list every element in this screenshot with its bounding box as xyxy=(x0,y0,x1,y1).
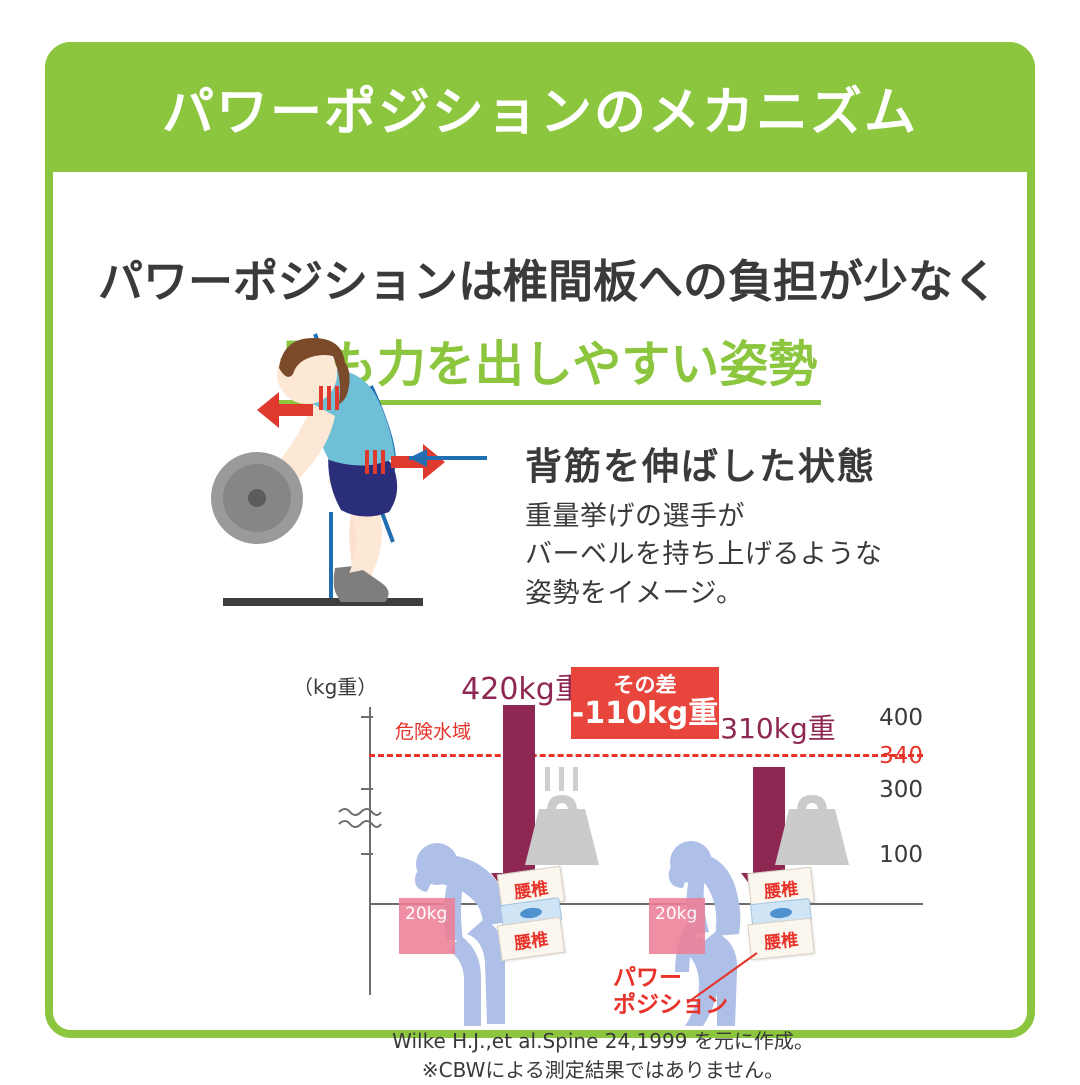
tickmark-100 xyxy=(361,853,373,855)
credit-line-2: ※CBWによる測定結果ではありません。 xyxy=(283,1056,923,1085)
difference-badge-line-1: その差 xyxy=(614,674,677,697)
caption-body-line-1: 重量挙げの選手が xyxy=(525,498,995,536)
axis-break-icon xyxy=(337,805,383,831)
headline-line-1: パワーポジションは椎間板への負担が少なく xyxy=(53,245,1043,310)
headline-line-2-wrap: 最も力を出しやすい姿勢 xyxy=(53,325,1043,405)
caption-body-line-3: 姿勢をイメージ。 xyxy=(525,575,995,613)
danger-threshold-label: 危険水域 xyxy=(395,717,471,744)
difference-badge-line-2: -110kg重 xyxy=(572,697,719,732)
header-banner: パワーポジションのメカニズム xyxy=(45,42,1035,172)
tickmark-300 xyxy=(361,788,373,790)
load-box-2: 20kg xyxy=(649,898,705,954)
difference-badge: その差 -110kg重 xyxy=(571,667,719,739)
credit-line-1: Wilke H.J.,et al.Spine 24,1999 を元に作成。 xyxy=(283,1027,923,1056)
load-box-1: 20kg xyxy=(399,898,455,954)
content-card: パワーポジションのメカニズム パワーポジションは椎間板への負担が少なく 最も力を… xyxy=(45,42,1035,1038)
danger-threshold-line xyxy=(369,754,923,757)
power-position-annotation-line-1: パワー xyxy=(613,965,728,992)
weightlifter-illustration xyxy=(203,330,523,650)
y-axis-line xyxy=(369,707,371,995)
power-position-annotation: パワー ポジション xyxy=(613,965,728,1018)
power-position-annotation-line-2: ポジション xyxy=(613,992,728,1019)
load-chart: （kg重） 400 340 300 100 危険水域 420kg重 310kg重 xyxy=(283,655,923,1055)
load-box-label-2: 20kg xyxy=(655,904,697,924)
page-title: パワーポジションのメカニズム xyxy=(162,70,918,145)
chart-credit: Wilke H.J.,et al.Spine 24,1999 を元に作成。 ※C… xyxy=(283,1027,923,1085)
axis-unit-label: （kg重） xyxy=(293,671,377,700)
caption-block: 背筋を伸ばした状態 重量挙げの選手が バーベルを持ち上げるような 姿勢をイメージ… xyxy=(525,436,995,613)
caption-body: 重量挙げの選手が バーベルを持ち上げるような 姿勢をイメージ。 xyxy=(525,498,995,613)
load-box-label-1: 20kg xyxy=(405,904,447,924)
caption-title: 背筋を伸ばした状態 xyxy=(525,436,995,490)
tickmark-400 xyxy=(361,716,373,718)
infographic-root: パワーポジションのメカニズム パワーポジションは椎間板への負担が少なく 最も力を… xyxy=(0,0,1080,1080)
caption-body-line-2: バーベルを持ち上げるような xyxy=(525,536,995,574)
